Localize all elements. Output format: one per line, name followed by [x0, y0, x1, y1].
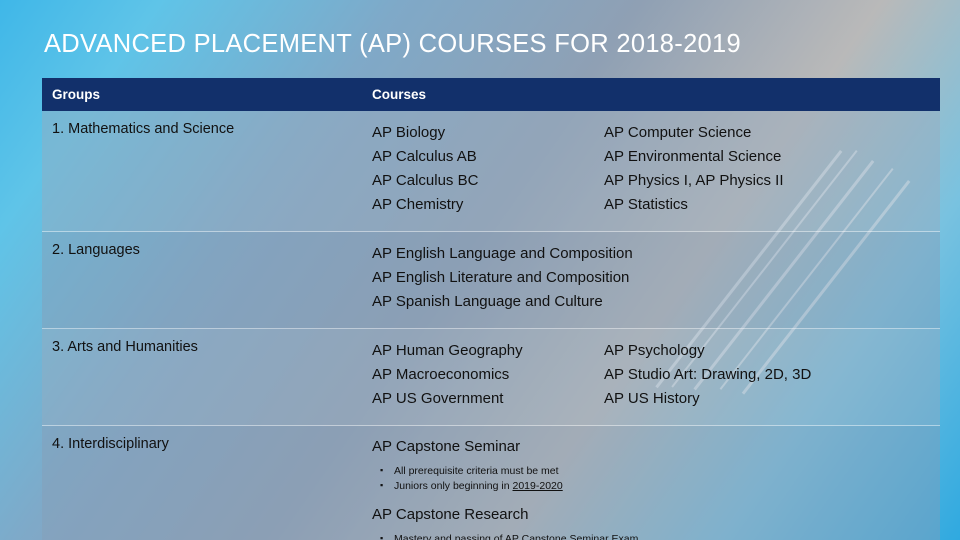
courses-cell: AP Capstone Seminar All prerequisite cri…	[362, 426, 940, 540]
course-item: AP Studio Art: Drawing, 2D, 3D	[604, 363, 934, 387]
courses-column-right: AP Computer Science AP Environmental Sci…	[604, 121, 934, 217]
table-row: 3. Arts and Humanities AP Human Geograph…	[42, 329, 940, 426]
courses-cell: AP Human Geography AP Macroeconomics AP …	[362, 329, 940, 426]
course-item: AP Biology	[372, 121, 604, 145]
table-row: 1. Mathematics and Science AP Biology AP…	[42, 111, 940, 232]
group-cell: 1. Mathematics and Science	[42, 111, 362, 232]
group-label: 4. Interdisciplinary	[52, 436, 362, 452]
courses-column-left: AP English Language and Composition AP E…	[372, 242, 940, 314]
column-header-courses: Courses	[362, 78, 940, 111]
course-item: AP Environmental Science	[604, 145, 934, 169]
table-row: 4. Interdisciplinary AP Capstone Seminar…	[42, 426, 940, 540]
course-item: AP Calculus AB	[372, 145, 604, 169]
course-item: AP US History	[604, 387, 934, 411]
page-title: ADVANCED PLACEMENT (AP) COURSES FOR 2018…	[44, 30, 741, 59]
course-item: AP English Literature and Composition	[372, 266, 940, 290]
table-row: 2. Languages AP English Language and Com…	[42, 232, 940, 329]
capstone-seminar-bullets: All prerequisite criteria must be met Ju…	[372, 464, 940, 494]
list-item: Mastery and passing of AP Capstone Semin…	[372, 532, 940, 540]
list-item: All prerequisite criteria must be met	[372, 464, 940, 479]
ap-courses-table: Groups Courses 1. Mathematics and Scienc…	[42, 78, 940, 540]
course-item: AP Calculus BC	[372, 169, 604, 193]
course-item: AP Human Geography	[372, 339, 604, 363]
courses-column-right: AP Psychology AP Studio Art: Drawing, 2D…	[604, 339, 934, 411]
course-item: AP US Government	[372, 387, 604, 411]
capstone-research-bullets: Mastery and passing of AP Capstone Semin…	[372, 532, 940, 540]
course-item: AP English Language and Composition	[372, 242, 940, 266]
group-label: 2. Languages	[52, 242, 362, 258]
list-item: Juniors only beginning in 2019-2020	[372, 479, 940, 494]
course-item: AP Physics I, AP Physics II	[604, 169, 934, 193]
courses-column-left: AP Biology AP Calculus AB AP Calculus BC…	[372, 121, 604, 217]
group-cell: 2. Languages	[42, 232, 362, 329]
slide: ADVANCED PLACEMENT (AP) COURSES FOR 2018…	[0, 0, 960, 540]
courses-cell: AP Biology AP Calculus AB AP Calculus BC…	[362, 111, 940, 232]
courses-cell: AP English Language and Composition AP E…	[362, 232, 940, 329]
capstone-seminar-title: AP Capstone Seminar	[372, 436, 940, 458]
course-item: AP Chemistry	[372, 193, 604, 217]
course-item: AP Computer Science	[604, 121, 934, 145]
course-item: AP Statistics	[604, 193, 934, 217]
course-item: AP Psychology	[604, 339, 934, 363]
table-header-row: Groups Courses	[42, 78, 940, 111]
course-item: AP Spanish Language and Culture	[372, 290, 940, 314]
column-header-groups: Groups	[42, 78, 362, 111]
courses-column-left: AP Human Geography AP Macroeconomics AP …	[372, 339, 604, 411]
group-cell: 3. Arts and Humanities	[42, 329, 362, 426]
group-label: 3. Arts and Humanities	[52, 339, 362, 355]
course-item: AP Macroeconomics	[372, 363, 604, 387]
group-label: 1. Mathematics and Science	[52, 121, 362, 137]
group-cell: 4. Interdisciplinary	[42, 426, 362, 540]
capstone-research-title: AP Capstone Research	[372, 504, 940, 526]
